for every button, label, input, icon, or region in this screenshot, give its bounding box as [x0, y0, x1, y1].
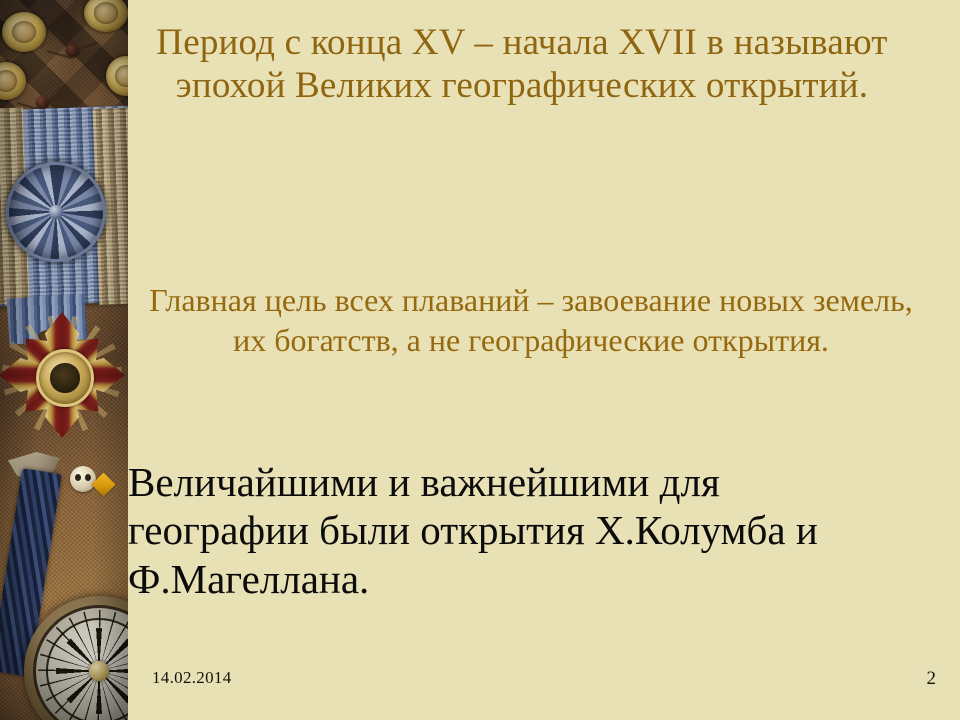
upholstery-tack-icon [36, 96, 49, 109]
slide-content: Период с конца XV – начала XVII в называ… [128, 0, 960, 720]
bullet-list: Величайшими и важнейшими для географии б… [94, 458, 884, 603]
military-cross-medal-icon [0, 300, 128, 450]
presentation-slide: Период с конца XV – начала XVII в называ… [0, 0, 960, 720]
compass-needle-hub [89, 661, 109, 681]
footer-date: 14.02.2014 [152, 668, 232, 688]
gold-coin-icon [2, 12, 46, 52]
slide-title: Период с конца XV – начала XVII в называ… [122, 22, 922, 108]
sidebar-decorative-photo [0, 0, 128, 720]
pleated-rosette-icon [6, 162, 106, 262]
upholstery-tack-icon [66, 44, 79, 57]
medal-medallion-center [36, 349, 94, 407]
bullet-list-item: Величайшими и важнейшими для географии б… [94, 458, 884, 603]
footer-page-number: 2 [927, 668, 937, 690]
bead-ornament [70, 466, 96, 492]
paragraph-main-goal: Главная цель всех плаваний – завоевание … [146, 280, 916, 361]
